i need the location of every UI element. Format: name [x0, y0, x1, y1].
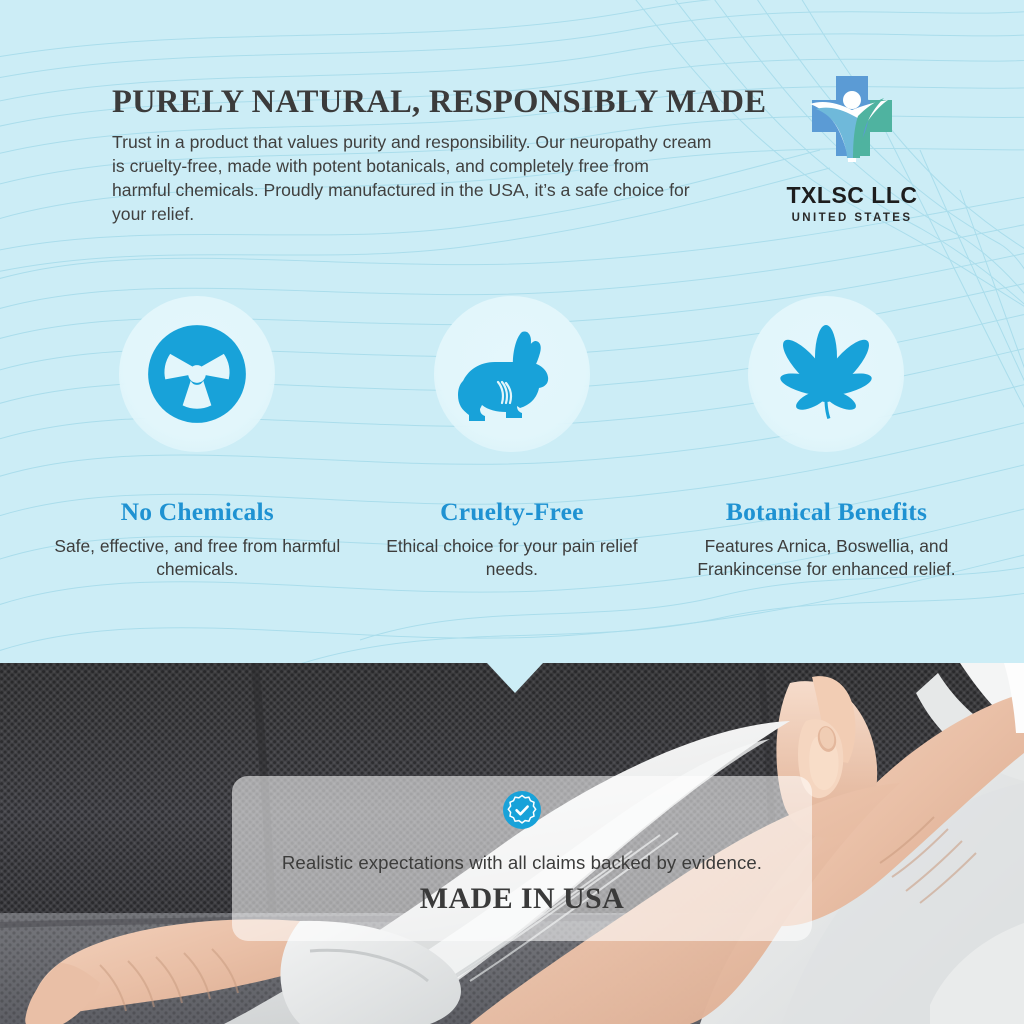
rabbit-icon [456, 322, 568, 426]
feature-description: Ethical choice for your pain relief need… [355, 535, 670, 581]
radiation-icon [145, 322, 249, 426]
logo-subtitle: UNITED STATES [772, 212, 932, 224]
feature-description: Safe, effective, and free from harmful c… [40, 535, 355, 581]
feature-icon-bubble [748, 296, 904, 452]
feature-columns: No Chemicals Safe, effective, and free f… [40, 296, 984, 581]
leaf-icon [771, 319, 881, 429]
page-title: PURELY NATURAL, RESPONSIBLY MADE [112, 84, 752, 120]
feature-title: No Chemicals [40, 498, 355, 526]
top-panel: PURELY NATURAL, RESPONSIBLY MADE Trust i… [0, 0, 1024, 664]
feature-no-chemicals: No Chemicals Safe, effective, and free f… [40, 296, 355, 581]
feature-description: Features Arnica, Boswellia, and Frankinc… [669, 535, 984, 581]
brand-logo: TXLSC LLC UNITED STATES [772, 74, 932, 224]
feature-botanical-benefits: Botanical Benefits Features Arnica, Bosw… [669, 296, 984, 581]
made-in-usa-headline: MADE IN USA [232, 882, 812, 916]
medical-cross-with-human-figure-icon [772, 74, 932, 182]
infographic-poster: PURELY NATURAL, RESPONSIBLY MADE Trust i… [0, 0, 1024, 1024]
panel-pointer-notch [487, 663, 543, 693]
header-block: PURELY NATURAL, RESPONSIBLY MADE Trust i… [112, 84, 752, 227]
claim-statement: Realistic expectations with all claims b… [232, 852, 812, 874]
feature-cruelty-free: Cruelty-Free Ethical choice for your pai… [355, 296, 670, 581]
verified-check-badge-icon [502, 790, 542, 830]
feature-title: Botanical Benefits [669, 498, 984, 526]
feature-icon-bubble [434, 296, 590, 452]
logo-company-name: TXLSC LLC [772, 184, 932, 207]
feature-title: Cruelty-Free [355, 498, 670, 526]
intro-paragraph: Trust in a product that values purity an… [112, 131, 712, 227]
claim-overlay-card: Realistic expectations with all claims b… [232, 776, 812, 941]
feature-icon-bubble [119, 296, 275, 452]
